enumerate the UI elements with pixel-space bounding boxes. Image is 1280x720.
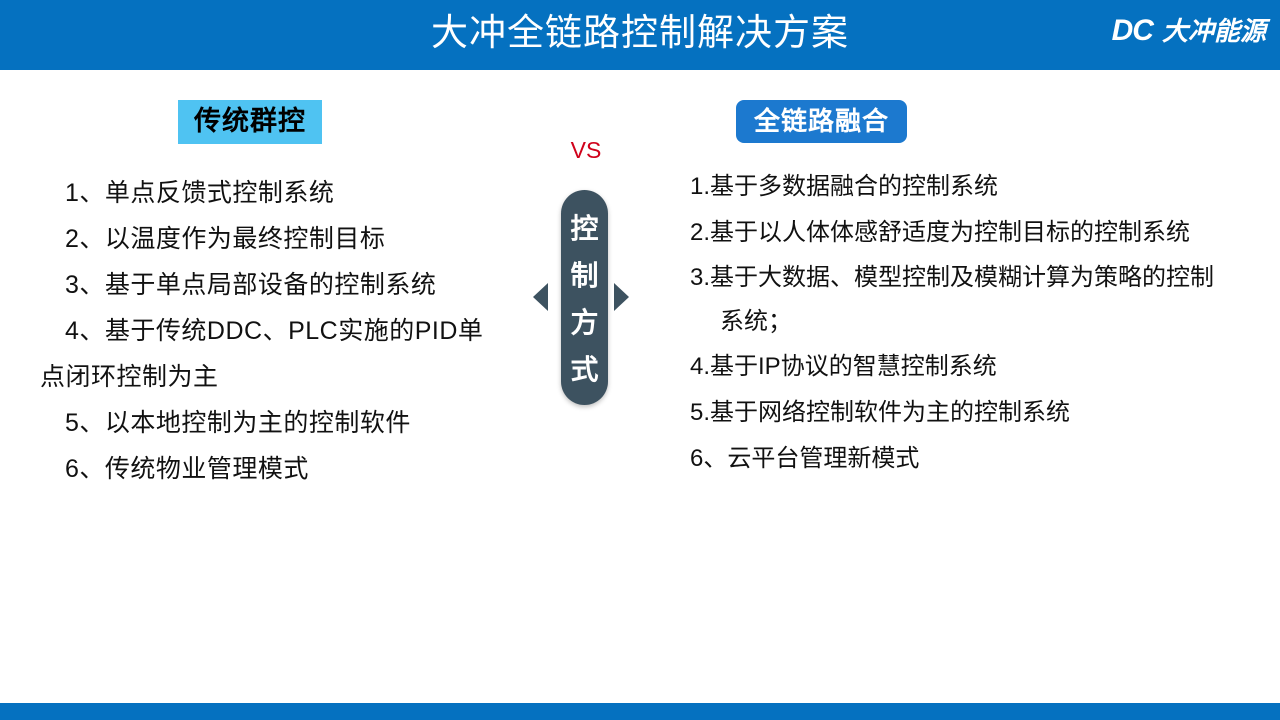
list-item-continuation-text: 系统； [690,300,1280,344]
list-item: 6、云平台管理新模式 [688,436,1280,482]
list-item: 5.基于网络控制软件为主的控制系统 [688,390,1280,436]
left-arrow-icon [533,283,548,311]
list-item: 5、以本地控制为主的控制软件 [40,400,540,446]
pill-char: 式 [570,346,598,393]
list-item: 2、以温度作为最终控制目标 [40,216,540,262]
right-column: 全链路融合 1.基于多数据融合的控制系统 2.基于以人体体感舒适度为控制目标的控… [688,100,1280,482]
logo-mark-dc: DC [1112,14,1153,48]
right-column-title: 全链路融合 [736,100,907,143]
list-item: 3、基于单点局部设备的控制系统 [40,262,540,308]
logo-name-cn: 大冲能源 [1162,14,1266,48]
list-item: 4.基于IP协议的智慧控制系统 [688,344,1280,390]
right-arrow-icon [614,283,629,311]
page-title: 大冲全链路控制解决方案 [0,6,1280,60]
list-item: 1.基于多数据融合的控制系统 [688,164,1280,210]
left-column: 传统群控 1、单点反馈式控制系统 2、以温度作为最终控制目标 3、基于单点局部设… [40,100,540,492]
left-title-wrapper: 传统群控 [0,100,500,144]
list-item: 6、传统物业管理模式 [40,446,540,492]
list-item: 1、单点反馈式控制系统 [40,170,540,216]
control-method-pill: 控 制 方 式 [561,190,608,405]
list-item-continuation: 点闭环控制为主 [40,354,540,400]
pill-char: 制 [570,252,598,299]
list-item: 2.基于以人体体感舒适度为控制目标的控制系统 [688,210,1280,256]
left-column-title: 传统群控 [178,100,322,144]
footer-bar [0,703,1280,720]
pill-char: 方 [570,299,598,346]
vs-label: VS [556,136,616,164]
list-item: 4、基于传统DDC、PLC实施的PID单 [40,308,540,354]
right-item-list: 1.基于多数据融合的控制系统 2.基于以人体体感舒适度为控制目标的控制系统 3.… [688,164,1280,482]
list-item-continuation: 系统； [688,300,1280,344]
right-title-wrapper: 全链路融合 [688,100,1280,143]
brand-logo: DC 大冲能源 [1112,14,1266,48]
pill-char: 控 [570,205,598,252]
list-item: 3.基于大数据、模型控制及模糊计算为策略的控制 [688,256,1280,300]
slide-canvas: 大冲全链路控制解决方案 DC 大冲能源 传统群控 1、单点反馈式控制系统 2、以… [0,0,1280,720]
left-item-list: 1、单点反馈式控制系统 2、以温度作为最终控制目标 3、基于单点局部设备的控制系… [40,170,540,492]
